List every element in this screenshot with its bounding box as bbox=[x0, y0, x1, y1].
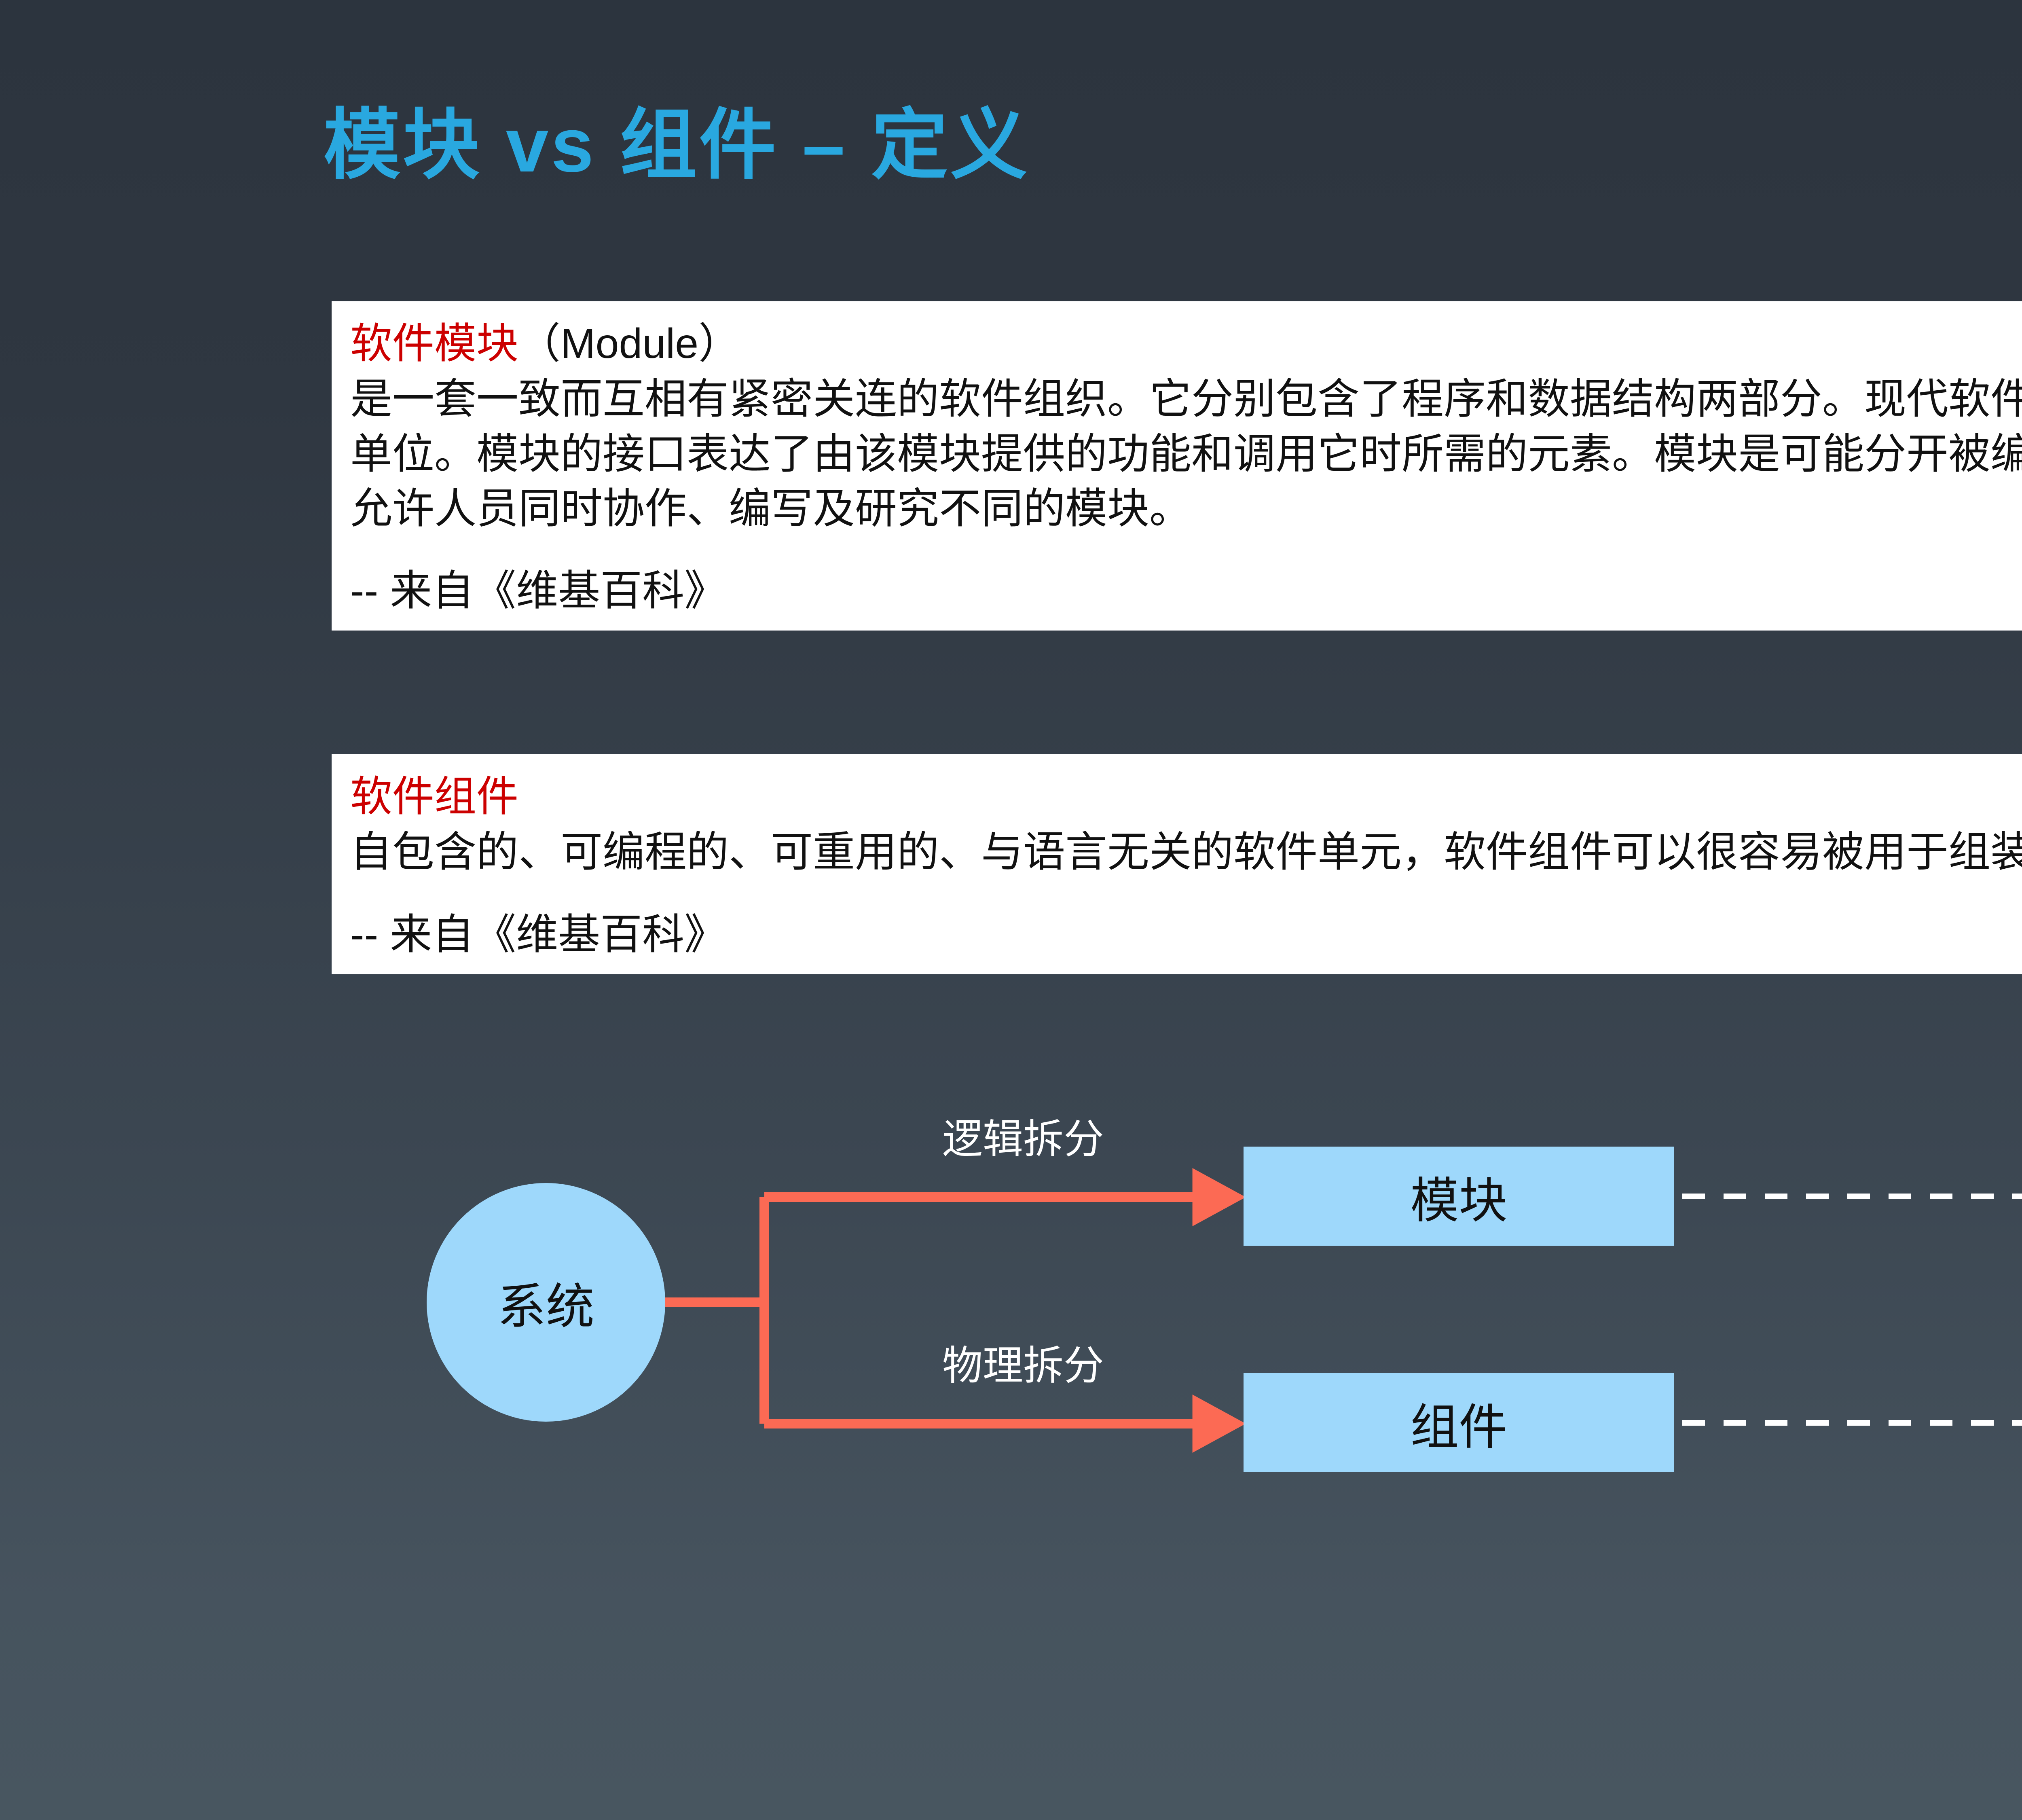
definition-card-component: 软件组件 自包含的、可编程的、可重用的、与语言无关的软件单元，软件组件可以很容易… bbox=[332, 754, 2022, 974]
diagram-edge-label-physical-split: 物理拆分 bbox=[942, 1333, 1104, 1391]
card-heading-rest: （Module） bbox=[518, 320, 740, 367]
diagram-node-label: 模块 bbox=[1411, 1161, 1508, 1232]
card-source: -- 来自《维基百科》 bbox=[350, 908, 2022, 962]
diagram-node-label: 系统 bbox=[497, 1267, 594, 1337]
diagram-node-label: 组件 bbox=[1411, 1388, 1508, 1458]
card-heading-highlight: 软件模块 bbox=[350, 320, 518, 367]
diagram-edge-label-logical-split: 逻辑拆分 bbox=[942, 1106, 1104, 1165]
card-heading-highlight: 软件组件 bbox=[350, 773, 518, 820]
card-body: 是一套一致而互相有紧密关连的软件组织。它分别包含了程序和数据结构两部分。现代软件… bbox=[350, 372, 2022, 536]
diagram-node-module: 模块 bbox=[1244, 1147, 1674, 1246]
diagram-node-component: 组件 bbox=[1244, 1373, 1674, 1472]
card-source: -- 来自《维基百科》 bbox=[350, 564, 2022, 618]
page-title: 模块 vs 组件 – 定义 bbox=[324, 101, 1030, 190]
card-body: 自包含的、可编程的、可重用的、与语言无关的软件单元，软件组件可以很容易被用于组装… bbox=[350, 825, 2022, 880]
card-heading: 软件模块（Module） bbox=[350, 316, 2022, 372]
definition-card-module: 软件模块（Module） 是一套一致而互相有紧密关连的软件组织。它分别包含了程序… bbox=[332, 301, 2022, 631]
diagram-node-system: 系统 bbox=[427, 1183, 665, 1422]
card-heading: 软件组件 bbox=[350, 769, 2022, 825]
